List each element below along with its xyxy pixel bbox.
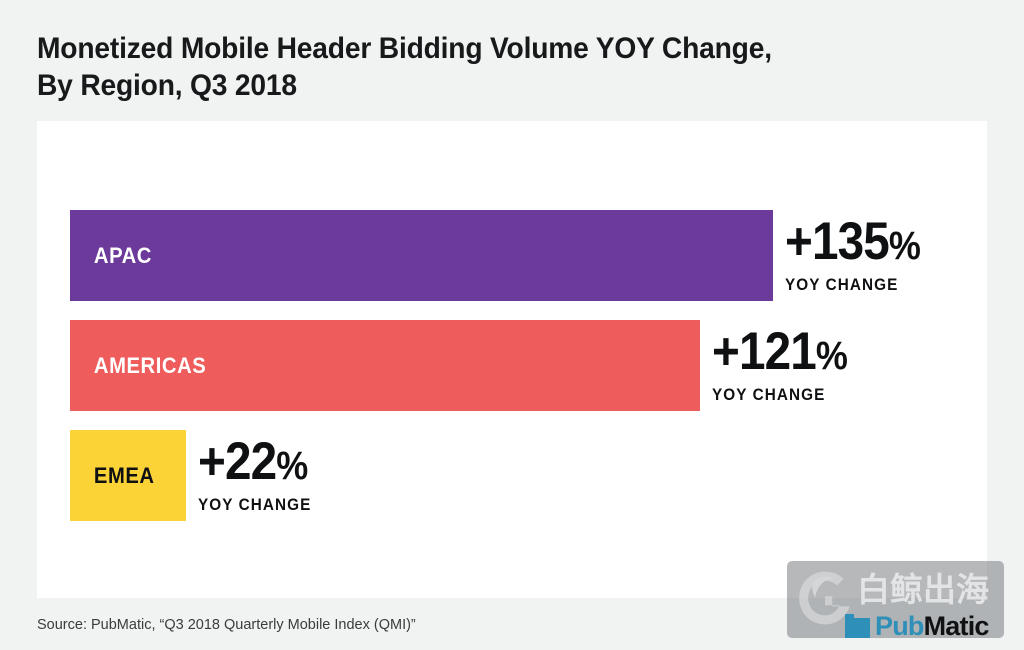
- bar-label-americas: AMERICAS: [70, 353, 206, 379]
- percent-sign-americas: %: [816, 334, 847, 378]
- value-number-americas: +121: [712, 322, 816, 381]
- pubmatic-logo-matic: Matic: [924, 611, 989, 641]
- bar-label-apac: APAC: [70, 243, 152, 269]
- pubmatic-logo: PubMatic: [845, 611, 989, 641]
- value-americas: +121%: [712, 327, 847, 381]
- bar-chart: APAC +135% YOY CHANGE AMERICAS +121% YOY…: [70, 210, 987, 521]
- value-number-emea: +22: [198, 432, 276, 491]
- chart-card: APAC +135% YOY CHANGE AMERICAS +121% YOY…: [37, 121, 987, 598]
- annotation-americas: YOY CHANGE: [712, 385, 847, 405]
- percent-sign-emea: %: [276, 444, 307, 488]
- percent-sign-apac: %: [889, 224, 920, 268]
- bar-row: APAC +135% YOY CHANGE: [70, 210, 987, 301]
- watermark-text: 白鲸出海: [857, 571, 989, 609]
- pubmatic-logo-pub: Pub: [875, 611, 924, 641]
- annotation-emea: YOY CHANGE: [198, 495, 311, 515]
- value-emea: +22%: [198, 437, 311, 491]
- value-apac: +135%: [785, 217, 920, 271]
- bar-apac[interactable]: APAC: [70, 210, 773, 301]
- value-block-emea: +22% YOY CHANGE: [186, 430, 324, 521]
- value-block-americas: +121% YOY CHANGE: [700, 320, 862, 411]
- bar-emea[interactable]: EMEA: [70, 430, 186, 521]
- value-block-apac: +135% YOY CHANGE: [773, 210, 935, 301]
- bar-label-emea: EMEA: [70, 463, 155, 489]
- bar-row: AMERICAS +121% YOY CHANGE: [70, 320, 987, 411]
- bar-row: EMEA +22% YOY CHANGE: [70, 430, 987, 521]
- source-note: Source: PubMatic, “Q3 2018 Quarterly Mob…: [37, 617, 416, 633]
- value-number-apac: +135: [785, 212, 889, 271]
- page-title: Monetized Mobile Header Bidding Volume Y…: [37, 30, 883, 104]
- bar-americas[interactable]: AMERICAS: [70, 320, 700, 411]
- pubmatic-square-icon: [845, 614, 871, 638]
- annotation-apac: YOY CHANGE: [785, 275, 920, 295]
